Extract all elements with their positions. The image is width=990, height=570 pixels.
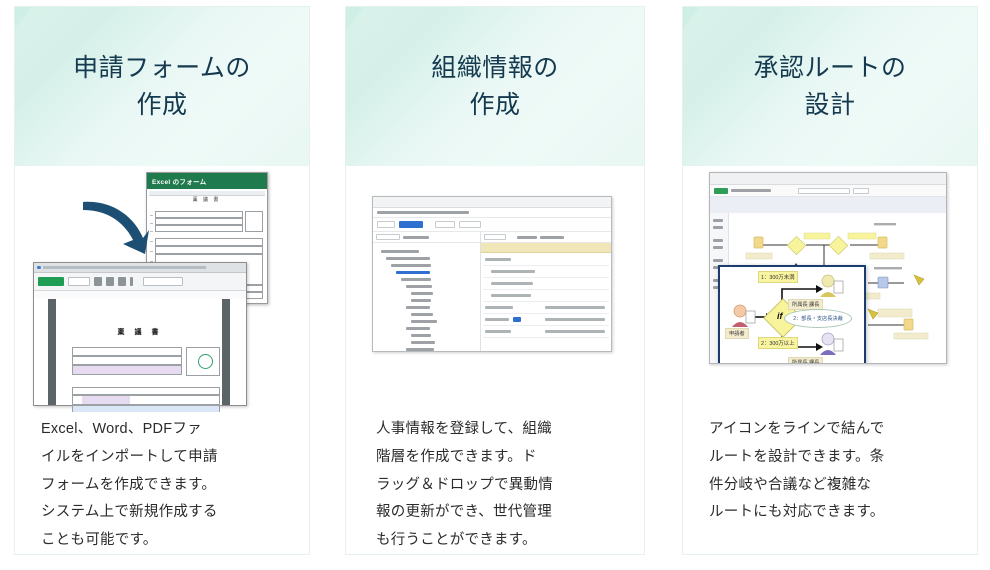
page-rail-right	[222, 299, 230, 405]
window-titlebar	[373, 197, 611, 208]
split-panes	[373, 232, 611, 352]
doc-field-row	[72, 387, 220, 395]
excel-field-row	[155, 225, 243, 232]
org-detail-pane[interactable]	[481, 232, 611, 352]
condition-label: if	[777, 311, 783, 321]
browser-tabbar	[34, 263, 246, 273]
card-header: 申請フォームの 作成	[15, 7, 309, 166]
excel-field-row	[155, 238, 263, 246]
breadcrumb	[373, 208, 611, 218]
rotate-icon[interactable]	[94, 277, 102, 286]
import-arrow-icon	[75, 198, 151, 260]
card-illustration-application-form: Excel のフォーム 稟 議 書	[15, 166, 309, 412]
org-tree-pane[interactable]	[373, 232, 481, 352]
detail-search-bar[interactable]	[481, 232, 611, 243]
card-body: 人事情報を登録して、組織 階層を作成できます。ド ラッグ＆ドロップで異動情 報の…	[346, 166, 644, 555]
card-illustration-workflow: if 1：300万未満 2：300万以上 申請者 所属長 課長 所属長 課長 2…	[683, 166, 977, 412]
status-badge	[513, 317, 521, 322]
browser-tab-title	[43, 266, 207, 269]
card-header: 承認ルートの 設計	[683, 7, 977, 166]
excel-doc-title: 稟 議 書	[193, 196, 221, 203]
workflow-callout-detail: if 1：300万未満 2：300万以上 申請者 所属長 課長 所属長 課長 2…	[718, 265, 866, 364]
page-rail-left	[48, 299, 56, 405]
primary-action-button[interactable]	[38, 277, 64, 286]
decision-note-bubble: 2：部長・支店長決裁	[784, 309, 852, 328]
more-icon[interactable]	[130, 277, 133, 286]
decision-note-text: 2：部長・支店長決裁	[793, 315, 843, 322]
card-body: Excel のフォーム 稟 議 書	[15, 166, 309, 555]
feature-card-approval-route: 承認ルートの 設計	[682, 6, 978, 555]
document-title: 稟 議 書	[118, 327, 163, 337]
toolbar	[373, 218, 611, 232]
undo-icon[interactable]	[106, 277, 114, 286]
card-header: 組織情報の 作成	[346, 7, 644, 166]
card-title: 申請フォームの 作成	[73, 50, 251, 123]
card-title: 組織情報の 作成	[431, 50, 559, 123]
doc-field-row-highlight	[72, 365, 182, 375]
toolbar-button[interactable]	[377, 221, 395, 228]
excel-window-title: Excel のフォーム	[152, 176, 206, 186]
feature-card-application-form: 申請フォームの 作成 Excel のフォーム 稟 議 書	[14, 6, 310, 555]
window-titlebar	[710, 173, 946, 185]
card-title: 承認ルートの 設計	[753, 50, 906, 123]
organization-window	[372, 196, 612, 352]
card-body: if 1：300万未満 2：300万以上 申請者 所属長 課長 所属長 課長 2…	[683, 166, 977, 555]
doc-body-area	[72, 405, 220, 412]
excel-field-row	[155, 218, 243, 225]
excel-window-titlebar: Excel のフォーム	[147, 173, 267, 189]
tree-search-bar[interactable]	[373, 232, 480, 243]
approval-stamp-icon	[198, 354, 213, 369]
doc-field-value	[82, 396, 130, 404]
feature-cards-stage: 申請フォームの 作成 Excel のフォーム 稟 議 書	[0, 0, 990, 570]
browser-favicon-icon	[37, 266, 41, 270]
applicant-label: 申請者	[725, 328, 749, 339]
toolbar-button[interactable]	[435, 221, 455, 228]
feature-card-organization-info: 組織情報の 作成	[345, 6, 645, 555]
name-field[interactable]	[798, 188, 850, 194]
card-illustration-organization	[346, 166, 644, 412]
workflow-toolbar-row	[710, 185, 946, 197]
toolbar-button[interactable]	[459, 221, 481, 228]
save-button[interactable]	[714, 188, 728, 194]
branch-label-high: 2：300万以上	[758, 337, 798, 349]
card-caption: Excel、Word、PDFファ イルをインポートして申請 フォームを作成できま…	[15, 416, 309, 555]
page-icon[interactable]	[118, 277, 126, 286]
zoom-select[interactable]	[143, 277, 183, 286]
excel-field-row	[155, 246, 263, 254]
detail-table-header	[481, 243, 611, 253]
card-caption: 人事情報を登録して、組織 階層を作成できます。ド ラッグ＆ドロップで異動情 報の…	[346, 416, 644, 555]
secondary-action-button[interactable]	[68, 277, 90, 286]
excel-field-row	[155, 211, 243, 218]
branch-label-low: 1：300万未満	[758, 271, 798, 283]
document-preview: 稟 議 書	[34, 299, 246, 405]
approver-role-label-2: 所属長 課長	[788, 357, 823, 364]
doc-field-row	[72, 356, 182, 365]
search-button[interactable]	[853, 188, 869, 194]
workflow-editor-window: if 1：300万未満 2：300万以上 申請者 所属長 課長 所属長 課長 2…	[709, 172, 947, 364]
excel-stamp-box	[245, 211, 263, 232]
browser-window: 稟 議 書	[33, 262, 247, 406]
card-caption: アイコンをラインで結んで ルートを設計できます。条 件分岐や合議など複雑な ルー…	[683, 416, 977, 527]
browser-toolbar	[34, 273, 246, 291]
toolbar-button-primary[interactable]	[399, 221, 423, 228]
doc-field-row	[72, 347, 182, 356]
